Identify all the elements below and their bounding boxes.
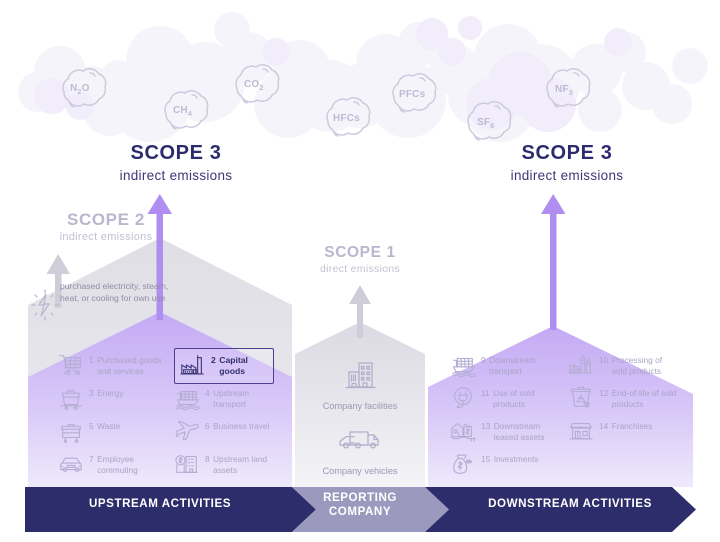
banner-label-downstream: DOWNSTREAM ACTIVITIES xyxy=(455,497,685,511)
banner-label-reporting: REPORTING COMPANY xyxy=(300,491,420,519)
value-chain-banner xyxy=(0,0,720,542)
banner-label-upstream: UPSTREAM ACTIVITIES xyxy=(60,497,260,511)
ghg-scopes-diagram: N2O CH4 CO2 HFCs PFCs SF6 NF3 xyxy=(0,0,720,542)
